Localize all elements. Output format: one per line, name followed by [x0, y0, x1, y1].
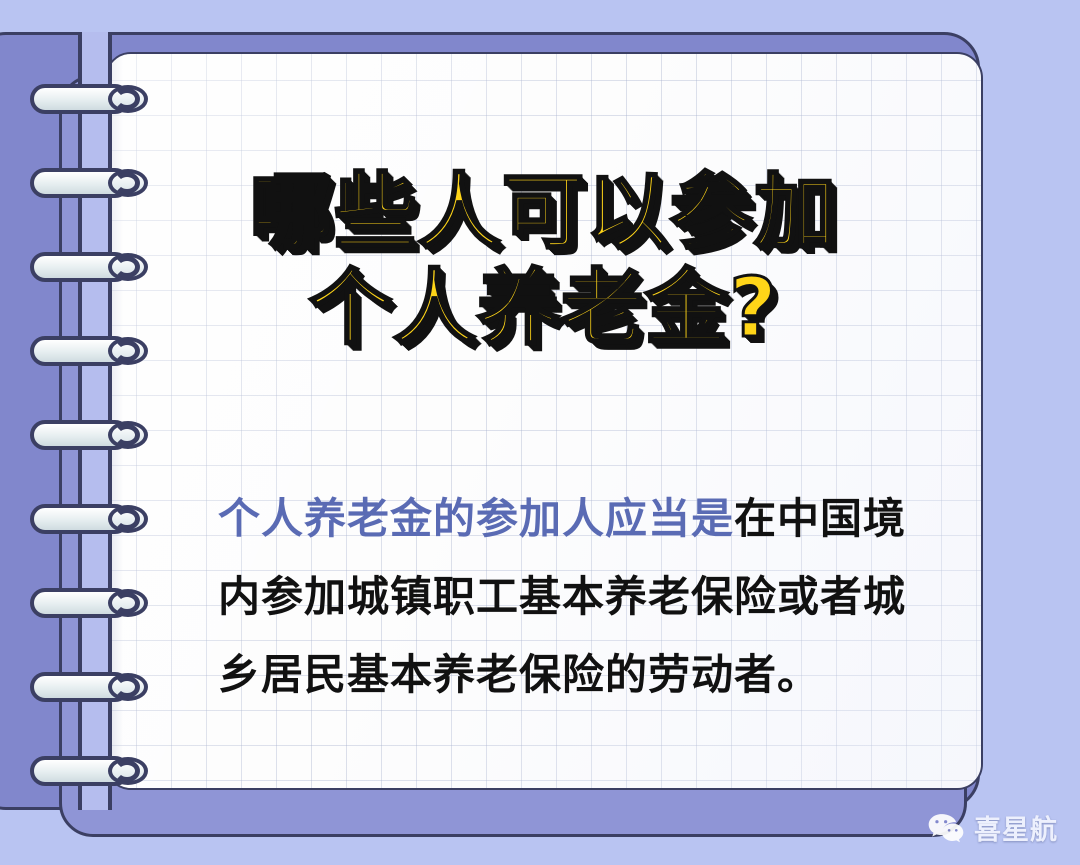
- binding-ring-icon: [30, 504, 148, 534]
- spiral-binding: [0, 0, 220, 865]
- body-line-1-normal: 在中国境: [734, 494, 906, 543]
- body-highlight-phrase: 个人养老金的参加人应当是: [218, 494, 734, 543]
- watermark: 喜星航: [927, 808, 1058, 847]
- body-paragraph: 个人养老金的参加人应当是在中国境 内参加城镇职工基本养老保险或者城 乡居民基本养…: [218, 480, 948, 714]
- body-line-3: 乡居民基本养老保险的劳动者。: [218, 636, 948, 714]
- wechat-icon: [927, 812, 965, 844]
- binding-ring-icon: [30, 84, 148, 114]
- binding-ring-icon: [30, 588, 148, 618]
- headline-line-1: 哪些人可以参加: [105, 165, 983, 261]
- body-line-1: 个人养老金的参加人应当是在中国境: [218, 480, 948, 558]
- body-line-2: 内参加城镇职工基本养老保险或者城: [218, 558, 948, 636]
- watermark-account-name: 喜星航: [974, 808, 1058, 847]
- poster-canvas: 哪些人可以参加 个人养老金? 个人养老金的参加人应当是在中国境 内参加城镇职工基…: [0, 0, 1080, 865]
- headline: 哪些人可以参加 个人养老金?: [105, 165, 983, 357]
- headline-line-2: 个人养老金?: [105, 261, 983, 357]
- binding-ring-icon: [30, 756, 148, 786]
- binding-ring-icon: [30, 420, 148, 450]
- binding-ring-icon: [30, 672, 148, 702]
